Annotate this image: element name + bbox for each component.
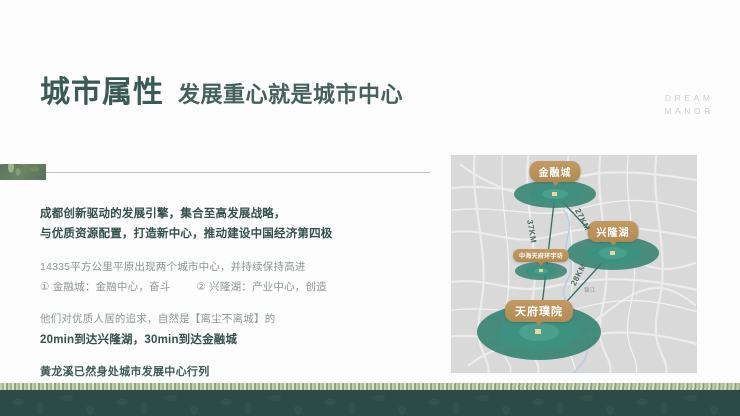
muted-stat-line: 14335平方公里平原出现两个城市中心，并持续保持高进 [40,258,420,277]
map-label-finance-city: 金融城 [530,161,581,182]
page-title-subtitle: 发展重心就是城市中心 [178,84,403,106]
brand-line-1: DREAM [664,92,714,105]
pursuit-line: 他们对优质人居的追求，自然是【离尘不离城】的 [40,310,420,329]
center-point-two: ② 兴隆湖：产业中心，创造 [196,278,326,297]
map-graphic [451,155,697,373]
leaf-pattern-icon [0,164,46,180]
footer-top-texture [0,383,740,390]
map-label-zhonghai-plaza: 中海天府环宇坊 [513,249,569,262]
lead-line-2: 与优质资源配置，打造新中心，推动建设中国经济第四极 [40,224,420,244]
location-map: 金融城 兴隆湖 中海天府环宇坊 天府璞院 37KM 27KM 28KM 锦江 [451,155,697,373]
footer-leaf-pattern [0,390,740,416]
page-title: 城市属性 发展重心就是城市中心 [40,78,403,108]
divider-line [46,172,430,173]
lead-line-1: 成都创新驱动的发展引擎，集合至高发展战略， [40,204,420,224]
closing-line: 黄龙溪已然身处城市发展中心行列 [40,363,420,383]
divider [0,164,430,182]
slide-canvas: 城市属性 发展重心就是城市中心 DREAM MANOR 成都创新驱动的发展引擎，… [0,0,740,416]
center-point-one: ① 金融城：金融中心，奋斗 [40,278,170,297]
map-label-xinglong-lake: 兴隆湖 [588,221,639,242]
map-river-label: 锦江 [584,286,596,294]
page-title-main: 城市属性 [40,78,164,108]
brand-line-2: MANOR [664,105,714,118]
spacer [40,297,420,310]
body-copy: 成都创新驱动的发展引擎，集合至高发展战略， 与优质资源配置，打造新中心，推动建设… [40,204,420,383]
commute-line: 20min到达兴隆湖，30min到达金融城 [40,330,420,351]
spacer [40,244,420,258]
map-label-tianfu-puyuan: 天府璞院 [505,300,573,322]
botanical-chip-icon [0,164,46,180]
footer-band [0,383,740,416]
spacer [40,350,420,363]
brand-mark: DREAM MANOR [664,92,714,118]
center-points-row: ① 金融城：金融中心，奋斗 ② 兴隆湖：产业中心，创造 [40,278,420,297]
